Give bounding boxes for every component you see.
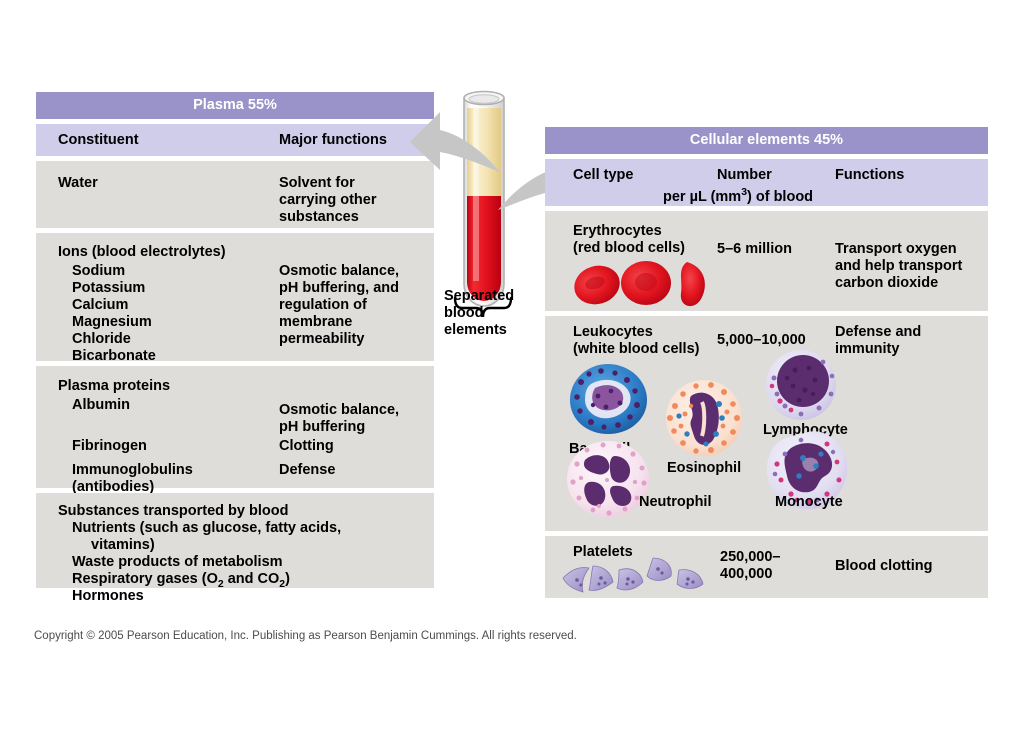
cellular-column-header: Cell type Number Functions per µL (mm3) … [545, 159, 988, 206]
plasma-title-bar: Plasma 55% [36, 92, 434, 119]
cellular-row-leukocytes: Leukocytes (white blood cells) 5,000–10,… [545, 316, 988, 531]
plasma-row-substances: Substances transported by blood Nutrient… [36, 493, 434, 588]
plasma-panel: Plasma 55% Constituent Major functions W… [36, 92, 434, 588]
eosinophil-label: Eosinophil [667, 460, 741, 476]
cellular-col-number-units: per µL (mm3) of blood [663, 184, 813, 206]
monocyte-label: Monocyte [775, 494, 843, 510]
basophil-illustration [565, 360, 651, 438]
cellular-col-functions: Functions [835, 167, 904, 184]
plasma-row-ions-constituent: Ions (blood electrolytes) [58, 244, 226, 261]
plasma-row-ions-item-0: Sodium [72, 263, 125, 280]
plasma-row-ions-item-2: Calcium [72, 297, 128, 314]
tube-caption: Separated blood elements [444, 288, 544, 339]
plasma-row-immunoglobulins-name: Immunoglobulins (antibodies) [72, 462, 193, 496]
plasma-row-water-function: Solvent for carrying other substances [279, 175, 377, 226]
cellular-row-erythrocytes-type: Erythrocytes (red blood cells) [573, 223, 685, 257]
plasma-row-ions-item-4: Chloride [72, 331, 131, 348]
plasma-row-ions-item-3: Magnesium [72, 314, 152, 331]
cellular-row-leukocytes-number: 5,000–10,000 [717, 332, 806, 349]
cellular-col-number: Number [717, 167, 772, 184]
cellular-title-bar: Cellular elements 45% [545, 127, 988, 154]
plasma-row-fibrinogen-function: Clotting [279, 438, 334, 455]
plasma-row-fibrinogen-name: Fibrinogen [72, 438, 147, 455]
plasma-row-albumin-name: Albumin [72, 397, 130, 414]
neutrophil-label: Neutrophil [639, 494, 712, 510]
plasma-row-immunoglobulins-function: Defense [279, 462, 335, 479]
blood-composition-figure: Plasma 55% Constituent Major functions W… [0, 0, 1028, 755]
plasma-col-functions: Major functions [279, 132, 387, 149]
cellular-row-erythrocytes: Erythrocytes (red blood cells) 5–6 milli… [545, 211, 988, 311]
plasma-row-substances-constituent: Substances transported by blood [58, 503, 288, 520]
tube-cell-layer [467, 196, 501, 301]
plasma-row-proteins: Plasma proteins Albumin Osmotic balance,… [36, 366, 434, 488]
plasma-row-ions-item-5: Bicarbonate [72, 348, 156, 365]
plasma-row-substances-item-1: vitamins) [91, 537, 155, 554]
cellular-row-platelets: Platelets 250,000– 400,000 Blood clottin… [545, 536, 988, 598]
plasma-col-constituent: Constituent [58, 132, 139, 149]
plasma-row-substances-item-0: Nutrients (such as glucose, fatty acids, [72, 520, 341, 537]
eosinophil-illustration [661, 378, 747, 458]
cellular-row-erythrocytes-function: Transport oxygen and help transport carb… [835, 241, 962, 292]
plasma-row-proteins-constituent: Plasma proteins [58, 378, 170, 395]
plasma-column-header: Constituent Major functions [36, 124, 434, 156]
plasma-row-albumin-function: Osmotic balance, pH buffering [279, 402, 399, 436]
cellular-col-cell-type: Cell type [573, 167, 633, 184]
cellular-row-platelets-number: 250,000– 400,000 [720, 549, 780, 583]
plasma-row-water-constituent: Water [58, 175, 98, 192]
cellular-row-erythrocytes-number: 5–6 million [717, 241, 792, 258]
cellular-row-platelets-function: Blood clotting [835, 558, 932, 575]
platelet-illustration [561, 556, 713, 600]
plasma-row-ions: Ions (blood electrolytes) Sodium Potassi… [36, 233, 434, 361]
plasma-row-substances-item-4: Hormones [72, 588, 144, 605]
cellular-elements-panel: Cellular elements 45% Cell type Number F… [545, 127, 988, 598]
lymphocyte-illustration [761, 348, 841, 422]
copyright-notice: Copyright © 2005 Pearson Education, Inc.… [34, 630, 577, 642]
plasma-row-ions-function: Osmotic balance, pH buffering, and regul… [279, 263, 399, 348]
cellular-row-leukocytes-type: Leukocytes (white blood cells) [573, 324, 699, 358]
plasma-row-substances-item-2: Waste products of metabolism [72, 554, 283, 571]
cellular-row-leukocytes-function: Defense and immunity [835, 324, 921, 358]
plasma-row-water: Water Solvent for carrying other substan… [36, 161, 434, 228]
erythrocyte-illustration [569, 257, 719, 309]
plasma-row-ions-item-1: Potassium [72, 280, 145, 297]
